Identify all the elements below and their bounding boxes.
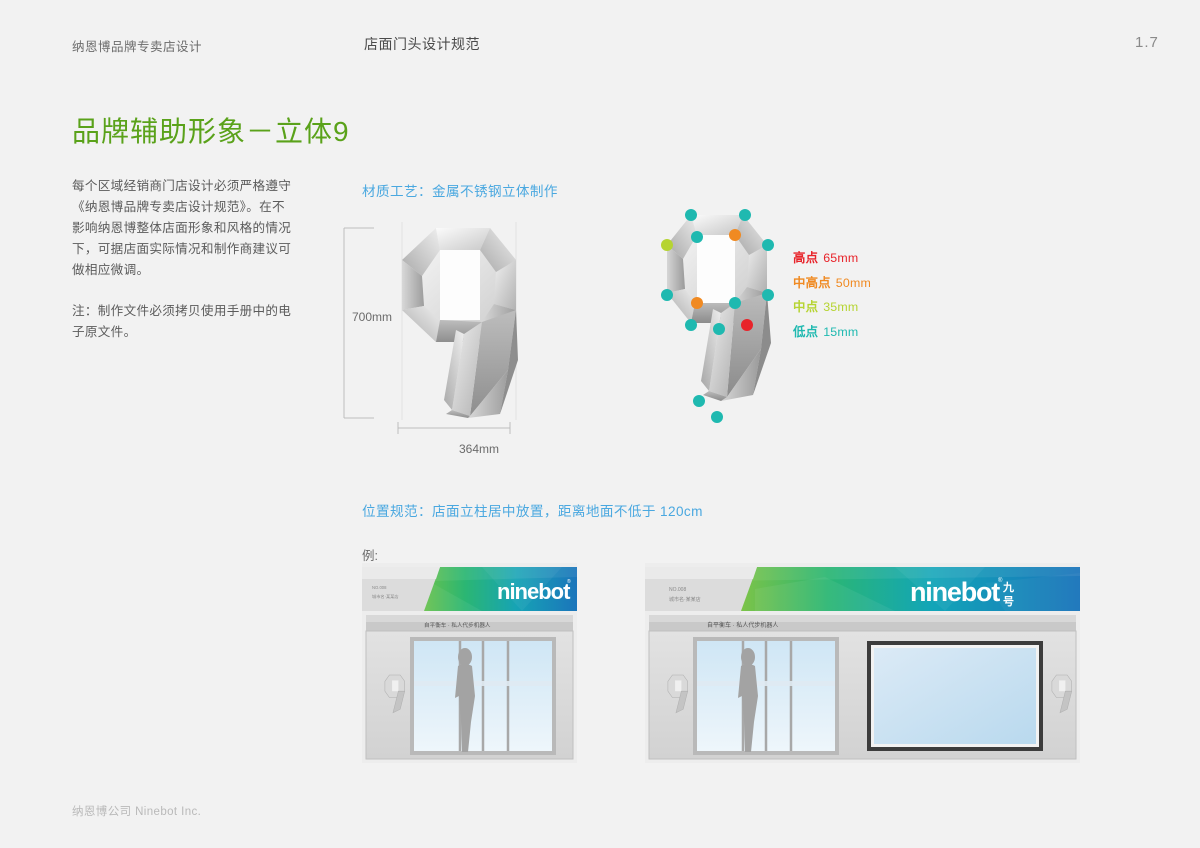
logo-cn2-b: 号 [1003,595,1014,608]
vertex-low-10 [693,395,705,407]
footer-copyright: 纳恩博公司 Ninebot Inc. [72,803,201,819]
plate-location-b: 城市名·某某店 [669,596,701,603]
legend-value-mid: 35mm [823,300,858,314]
sculpture-nine-facets-annotated [667,215,771,401]
header-section-title: 店面门头设计规范 [364,34,480,54]
plate-code-b: NO.008 [669,587,686,593]
registered-mark-a: ® [567,578,571,585]
sculpture-dimension-figure [340,210,570,460]
signage-band: NO.008 城市名·某某店 ninebot ® [362,567,577,611]
storefront-example-narrow: NO.008 城市名·某某店 ninebot ® 自平衡车 · 私人代步机器人 [362,563,577,763]
legend-item-midhigh: 中高点 50mm [793,273,871,291]
vertex-low-4 [762,289,774,301]
storefront-example-wide: NO.008 城市名·某某店 ninebot ® 九 号 自平衡车 · 私人代步… [645,563,1080,763]
tagline-a: 自平衡车 · 私人代步机器人 [424,621,491,629]
plate-code-a: NO.008 [372,585,387,590]
vertex-low-1 [685,209,697,221]
page-title: 品牌辅助形象－立体9 [72,110,350,150]
ninebot-logo-b: ninebot [910,577,1000,607]
plate-location-a: 城市名·某某店 [372,593,399,600]
display-window [867,641,1043,751]
description-paragraph-2: 注：制作文件必须拷贝使用手册中的电子原文件。 [72,301,294,343]
description-paragraph-1: 每个区域经销商门店设计必须严格遵守《纳恩博品牌专卖店设计规范》。在不影响纳恩博整… [72,176,294,281]
legend-value-high: 65mm [823,251,858,265]
vertex-low-7 [691,231,703,243]
vertex-high [741,319,753,331]
height-legend: 高点 65mm 中高点 50mm 中点 35mm 低点 15mm [793,248,871,346]
legend-label-mid: 中点 [793,297,818,315]
legend-value-low: 15mm [823,325,858,339]
tagline-b: 自平衡车 · 私人代步机器人 [707,621,778,629]
dimension-height-label: 700mm [352,310,392,324]
vertex-midhigh-1 [729,229,741,241]
sculpture-vertex-figure [655,205,795,430]
dimension-width-label: 364mm [459,442,499,456]
legend-item-high: 高点 65mm [793,248,871,266]
vertex-low-6 [661,289,673,301]
example-label: 例: [362,545,378,564]
legend-item-mid: 中点 35mm [793,297,871,315]
material-spec-heading: 材质工艺：金属不锈钢立体制作 [362,180,558,200]
vertex-low-5 [685,319,697,331]
sculpture-nine-facets [402,228,518,418]
position-spec-heading: 位置规范：店面立柱居中放置，距离地面不低于 120cm [362,500,703,520]
legend-label-high: 高点 [793,248,818,266]
page-root: 纳恩博品牌专卖店设计 店面门头设计规范 1.7 品牌辅助形象－立体9 每个区域经… [0,0,1200,848]
vertex-midhigh-2 [691,297,703,309]
vertex-mid [661,239,673,251]
page-number: 1.7 [1135,34,1159,51]
vertex-low-9 [713,323,725,335]
logo-cn-b: 九 [1002,580,1014,594]
vertex-low-3 [762,239,774,251]
legend-item-low: 低点 15mm [793,322,871,340]
description-column: 每个区域经销商门店设计必须严格遵守《纳恩博品牌专卖店设计规范》。在不影响纳恩博整… [72,176,294,363]
legend-label-midhigh: 中高点 [793,273,831,291]
vertex-low-11 [711,411,723,423]
legend-label-low: 低点 [793,322,818,340]
vertex-low-8 [729,297,741,309]
signage-band-b: NO.008 城市名·某某店 ninebot ® 九 号 [645,567,1080,611]
vertex-low-2 [739,209,751,221]
ninebot-logo-a: ninebot [497,579,571,604]
legend-value-midhigh: 50mm [836,276,871,290]
header-left-title: 纳恩博品牌专卖店设计 [72,36,202,55]
